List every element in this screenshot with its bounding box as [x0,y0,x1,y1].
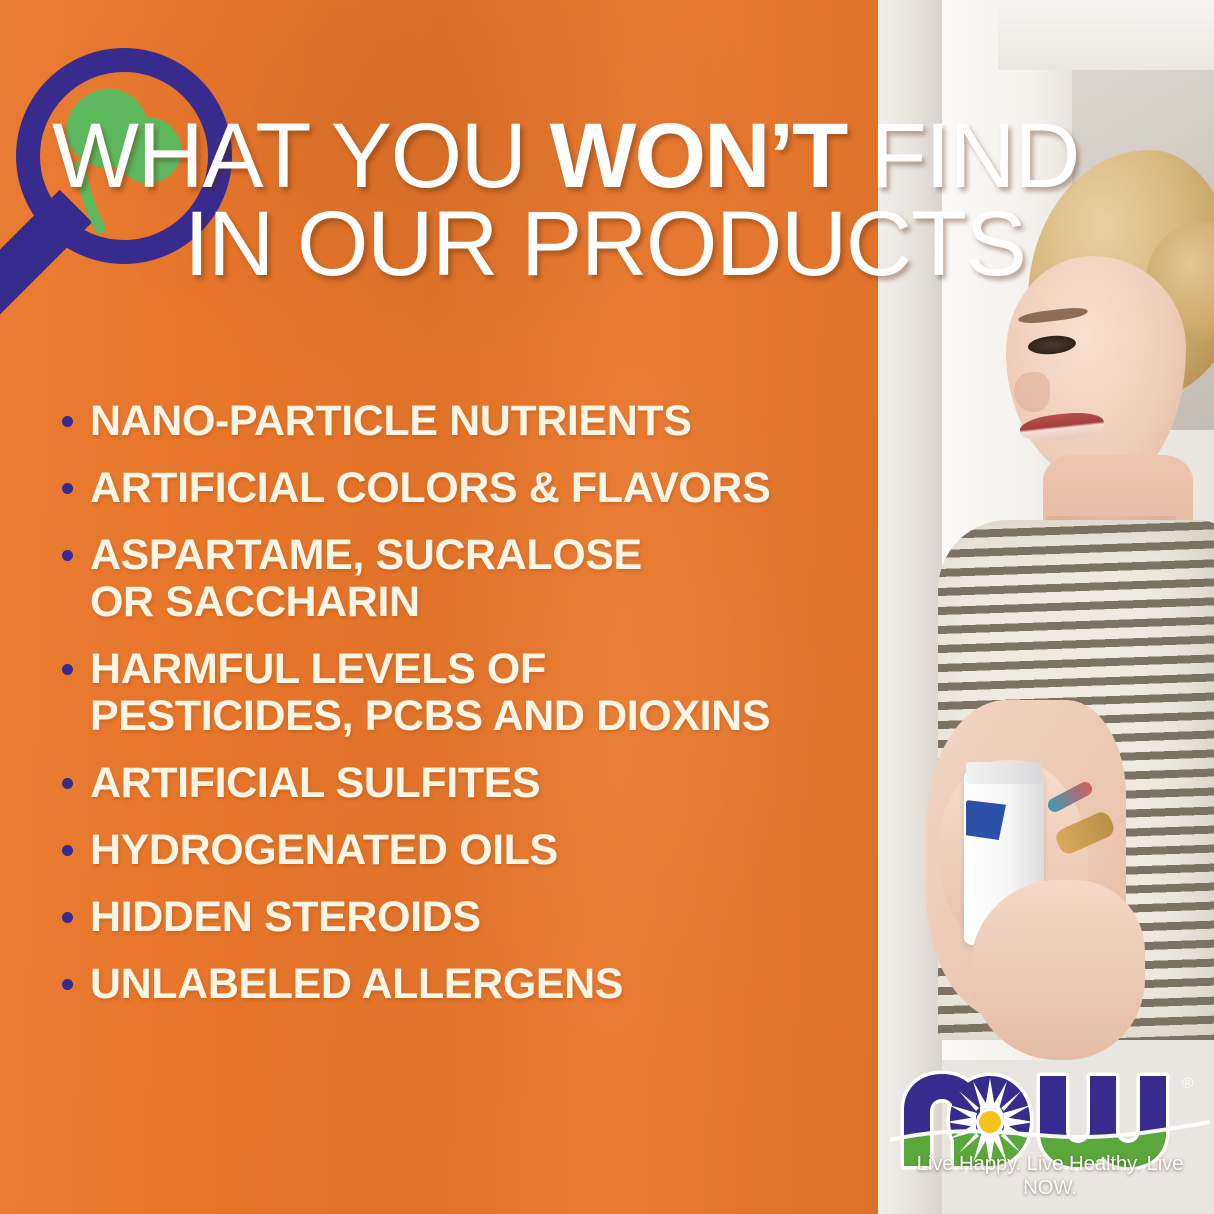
list-item-line: UNLABELED ALLERGENS [90,961,623,1008]
bullet-dot-icon [62,483,73,494]
list-item-text: HIDDEN STEROIDS [90,894,481,941]
list-item-text: ASPARTAME, SUCRALOSE OR SACCHARIN [90,532,642,626]
bullet-dot-icon [62,979,73,990]
list-item-text: HARMFUL LEVELS OF PESTICIDES, PCBS AND D… [90,646,770,740]
bullet-dot-icon [62,550,73,561]
bullet-dot-icon [62,416,73,427]
list-item-line: HIDDEN STEROIDS [90,894,481,941]
headline-part-3: FIND [846,105,1079,207]
list-item-line: ARTIFICIAL COLORS & FLAVORS [90,465,770,512]
bullet-dot-icon [62,845,73,856]
brand-tagline: Live Happy. Live Healthy. Live NOW. [890,1152,1210,1200]
list-item: UNLABELED ALLERGENS [62,961,872,1008]
headline-line-2: IN OUR PRODUCTS [184,200,1162,288]
headline-emphasis: WON’T [550,105,847,207]
photo-nose [1014,372,1050,412]
list-item: NANO-PARTICLE NUTRIENTS [62,398,872,445]
list-item: ASPARTAME, SUCRALOSE OR SACCHARIN [62,532,872,626]
list-item: ARTIFICIAL SULFITES [62,760,872,807]
bullet-dot-icon [62,778,73,789]
list-item: HIDDEN STEROIDS [62,894,872,941]
photo-bottle-label [966,800,1006,840]
list-item-text: UNLABELED ALLERGENS [90,961,623,1008]
list-item-text: NANO-PARTICLE NUTRIENTS [90,398,692,445]
list-item-line: HYDROGENATED OILS [90,827,558,874]
bullet-dot-icon [62,912,73,923]
excluded-ingredients-list: NANO-PARTICLE NUTRIENTS ARTIFICIAL COLOR… [62,398,872,1028]
photo-bottle-cap [966,762,1042,784]
list-item: HARMFUL LEVELS OF PESTICIDES, PCBS AND D… [62,646,872,740]
list-item: HYDROGENATED OILS [62,827,872,874]
list-item: ARTIFICIAL COLORS & FLAVORS [62,465,872,512]
list-item-line: PESTICIDES, PCBS AND DIOXINS [90,693,770,740]
list-item-text: HYDROGENATED OILS [90,827,558,874]
bullet-dot-icon [62,664,73,675]
photo-ceiling [998,0,1214,70]
list-item-line: HARMFUL LEVELS OF [90,646,770,693]
page-title: WHAT YOU WON’T FIND IN OUR PRODUCTS [52,112,1162,288]
list-item-line: NANO-PARTICLE NUTRIENTS [90,398,692,445]
headline-line-1: WHAT YOU WON’T FIND [52,105,1079,207]
promo-graphic: WHAT YOU WON’T FIND IN OUR PRODUCTS NANO… [0,0,1214,1214]
headline-part-1: WHAT YOU [52,105,550,207]
registered-mark: ® [1182,1075,1193,1092]
list-item-text: ARTIFICIAL COLORS & FLAVORS [90,465,770,512]
list-item-line: OR SACCHARIN [90,579,642,626]
list-item-line: ASPARTAME, SUCRALOSE [90,532,642,579]
list-item-line: ARTIFICIAL SULFITES [90,760,540,807]
list-item-text: ARTIFICIAL SULFITES [90,760,540,807]
